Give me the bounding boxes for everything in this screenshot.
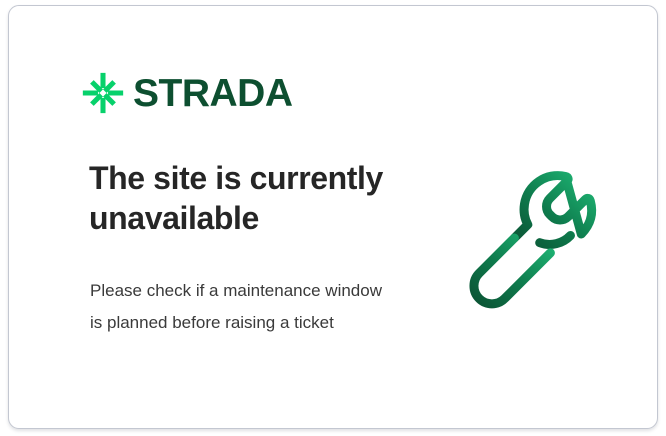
page-description: Please check if a maintenance window is … [90,275,390,339]
brand-wordmark: STRADA [133,74,293,113]
wrench-icon [464,163,624,315]
page-title: The site is currently unavailable [89,158,429,238]
asterisk-burst-icon [82,72,124,114]
status-card: STRADA The site is currently unavailable… [8,5,658,429]
page-root: STRADA The site is currently unavailable… [0,0,666,436]
brand-lockup: STRADA [82,72,293,114]
